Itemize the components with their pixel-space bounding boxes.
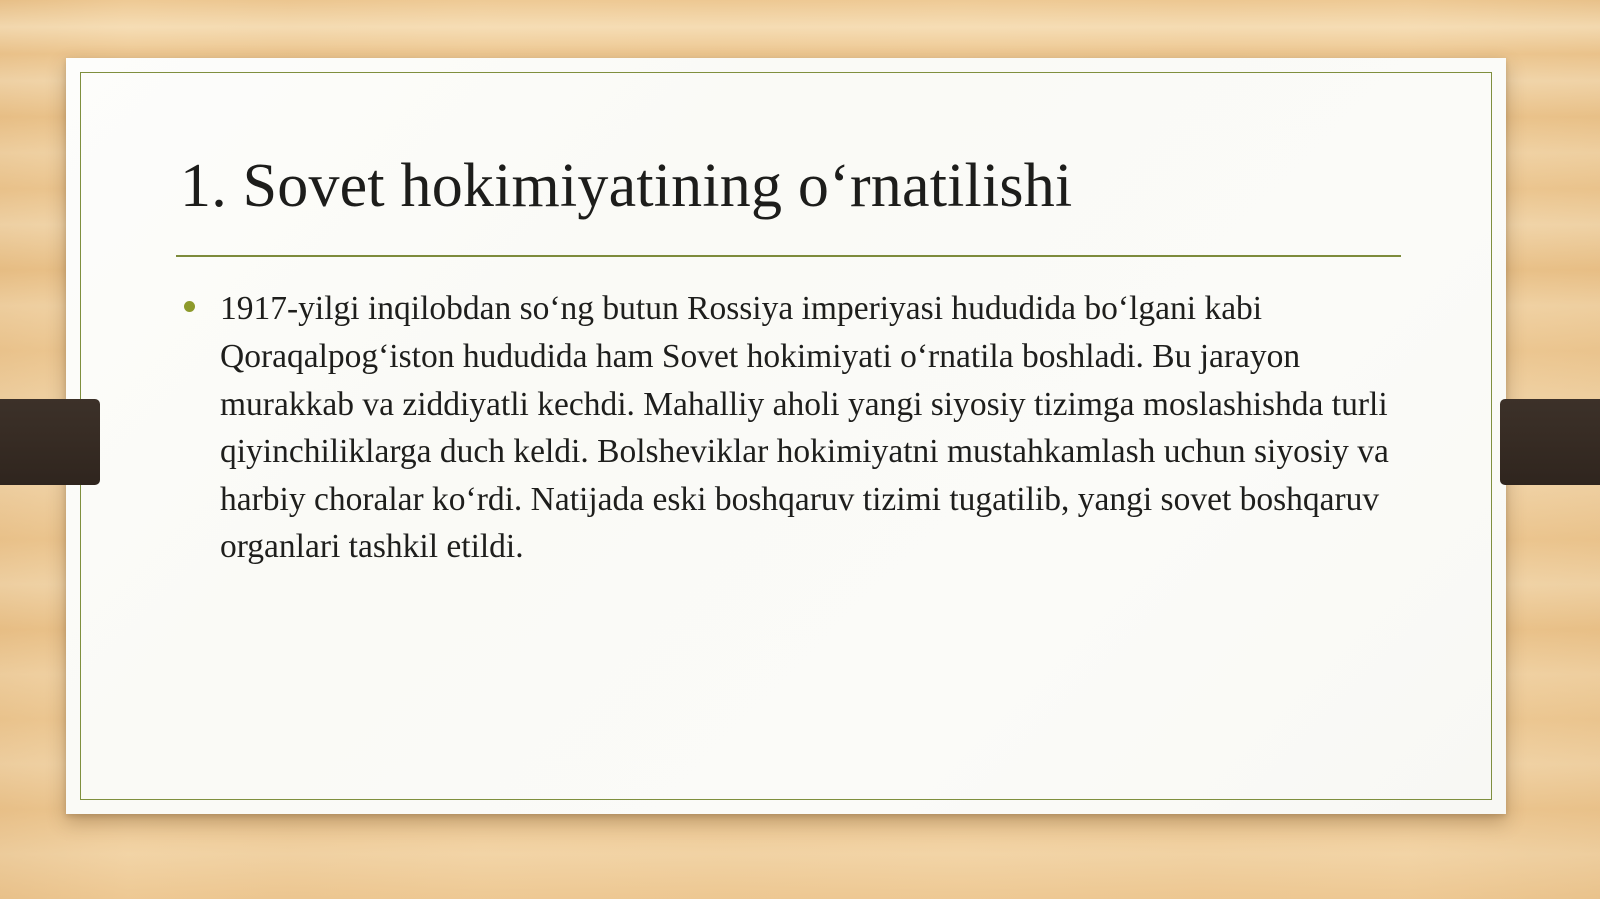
slide-card: 1. Sovet hokimiyatining oʻrnatilishi 191… (66, 58, 1506, 814)
page-title: 1. Sovet hokimiyatining oʻrnatilishi (176, 152, 1408, 221)
right-ribbon-band (1500, 399, 1600, 485)
bullet-text: 1917-yilgi inqilobdan soʻng butun Rossiy… (220, 290, 1389, 565)
slide-content: 1. Sovet hokimiyatining oʻrnatilishi 191… (176, 152, 1408, 571)
left-ribbon-band (0, 399, 100, 485)
title-divider (176, 255, 1401, 257)
list-item: 1917-yilgi inqilobdan soʻng butun Rossiy… (176, 285, 1408, 570)
slide-canvas: 1. Sovet hokimiyatining oʻrnatilishi 191… (0, 0, 1600, 899)
bullet-list: 1917-yilgi inqilobdan soʻng butun Rossiy… (176, 285, 1408, 570)
bullet-dot-icon (184, 301, 195, 312)
